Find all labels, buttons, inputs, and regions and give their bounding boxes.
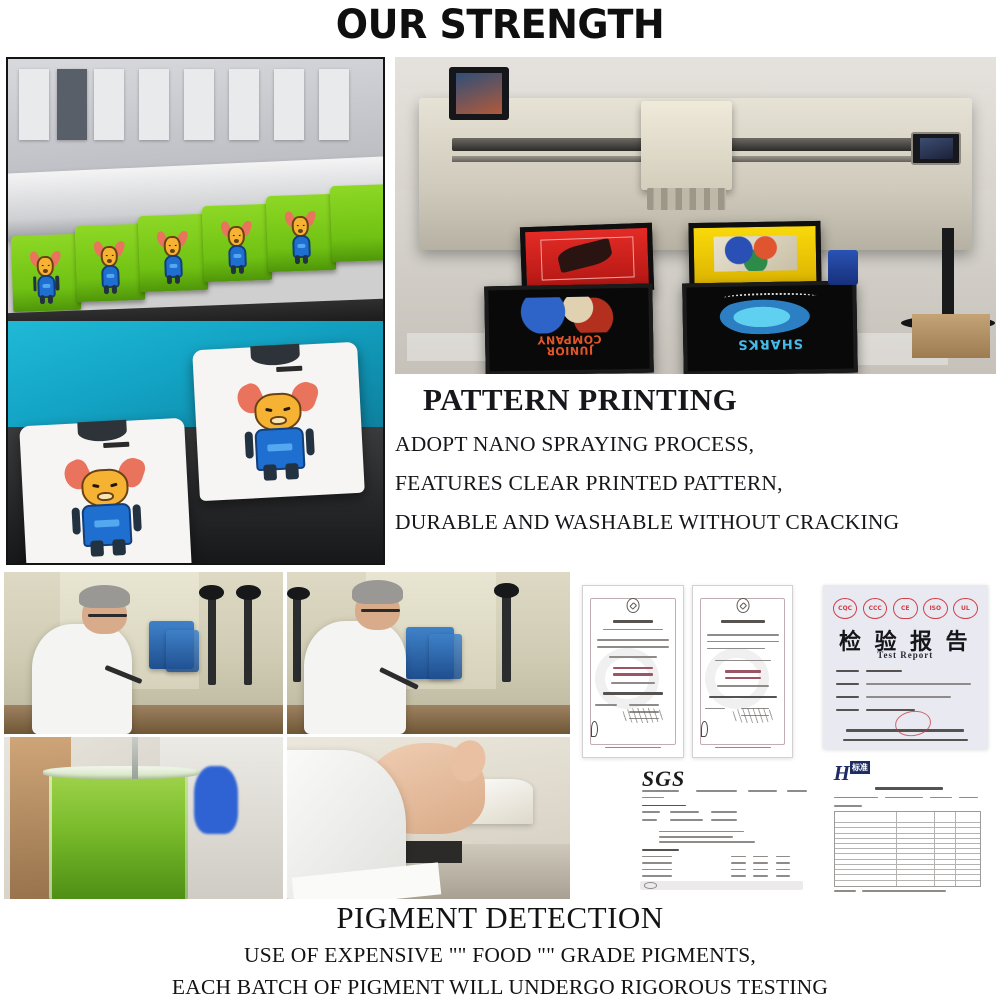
sgs-results-title xyxy=(642,849,679,851)
beaker-liquid xyxy=(49,773,189,899)
iso-logo-icon: ISO xyxy=(923,598,948,619)
bull-snout xyxy=(234,239,239,244)
certificate-h-test-report: H标准 xyxy=(827,758,987,895)
bull-leg-right xyxy=(239,265,244,274)
bull-mascot-print xyxy=(240,378,318,478)
sgs-results-row xyxy=(776,856,791,858)
h-report-header xyxy=(930,797,952,799)
table-row-divider xyxy=(835,827,981,828)
bull-leg-right xyxy=(285,464,299,480)
table-row-divider xyxy=(835,838,981,839)
blue-mixer-unit xyxy=(166,630,199,672)
bull-arm-left xyxy=(33,277,37,292)
pattern-printing-line-2: FEATURES CLEAR PRINTED PATTERN, xyxy=(395,471,1000,496)
bull-mascot-print xyxy=(67,453,145,553)
h-report-footnote xyxy=(862,890,945,892)
sharks-label: SHARKS xyxy=(701,335,841,352)
pattern-printing-line-1: ADOPT NANO SPRAYING PROCESS, xyxy=(395,432,1000,457)
bull-body xyxy=(291,235,310,259)
technician-hair xyxy=(352,580,403,604)
lab-clamp-knob xyxy=(287,587,310,600)
cardboard-box xyxy=(912,314,990,358)
photo-screen-printing-carousel xyxy=(6,57,385,565)
bull-snout xyxy=(170,249,175,254)
sgs-footer-bar xyxy=(640,881,803,890)
bull-snout xyxy=(269,416,286,426)
sgs-results-row xyxy=(753,862,768,864)
bull-eye-right xyxy=(111,254,113,256)
pigment-detection-line-1: USE OF EXPENSIVE "" FOOD "" GRADE PIGMEN… xyxy=(0,943,1000,968)
certificate-text-line xyxy=(707,648,765,650)
bull-leg-left xyxy=(40,296,45,305)
bull-eye-right xyxy=(283,407,290,412)
platen-sharks-garment: SHARKS xyxy=(683,281,859,374)
sgs-table-header xyxy=(642,811,661,813)
photo-dtg-printer: JUNIOR COMPANY SHARKS xyxy=(395,57,996,374)
bull-eye-right xyxy=(47,265,49,267)
sgs-table-cell xyxy=(642,819,657,821)
bull-leg-right xyxy=(175,275,180,284)
table-row-divider xyxy=(835,853,981,854)
sgs-results-row xyxy=(731,862,746,864)
certificate-text-line xyxy=(715,660,771,662)
yellow-tshirt xyxy=(689,221,822,290)
sharks-tshirt: SHARKS xyxy=(683,281,859,374)
sgs-results-row xyxy=(642,875,672,877)
bull-snout xyxy=(298,229,303,234)
bull-snout xyxy=(43,269,48,274)
operator-tablet[interactable] xyxy=(449,67,509,121)
sgs-header-line xyxy=(787,790,807,792)
bull-arm-left xyxy=(244,431,254,458)
hanging-shirt xyxy=(139,69,169,140)
beaker-rim xyxy=(43,766,199,779)
bull-arm-right xyxy=(305,428,315,455)
pigment-detection-section: PIGMENT DETECTION USE OF EXPENSIVE "" FO… xyxy=(0,900,1000,1000)
certificate-title-line xyxy=(721,620,765,623)
certificate-signature xyxy=(731,708,775,723)
sgs-logo: SGS xyxy=(642,766,685,792)
bull-eye-left xyxy=(92,484,99,488)
lab-clamp-knob xyxy=(236,585,261,600)
certificate-text-line xyxy=(611,682,655,684)
certification-logo-row: CQC CCC CE ISO UL xyxy=(833,598,978,619)
hanging-shirt xyxy=(19,69,49,140)
junior-company-tshirt: JUNIOR COMPANY xyxy=(484,284,654,374)
h-results-table xyxy=(834,811,982,888)
bull-leg-left xyxy=(231,265,236,274)
certificate-inspection-report: CQC CCC CE ISO UL 检 验 报 告 Test Report xyxy=(823,585,988,749)
certificate-signature xyxy=(621,708,665,723)
sgs-header-line xyxy=(748,790,778,792)
bull-leg-right xyxy=(112,539,126,555)
sgs-table-cell xyxy=(711,819,737,821)
sgs-header-line xyxy=(642,790,679,792)
sgs-results-row xyxy=(776,862,791,864)
bull-mascot-print xyxy=(159,228,188,282)
brand-wordmark xyxy=(275,366,302,372)
brand-wordmark xyxy=(103,442,130,448)
h-report-header xyxy=(885,797,923,799)
certificate-text-line xyxy=(597,646,668,648)
monitor-stand xyxy=(942,228,954,323)
blue-label xyxy=(194,766,239,834)
bull-eye-right xyxy=(174,244,176,246)
sgs-table-header xyxy=(711,811,737,813)
report-field-value xyxy=(866,670,902,672)
table-col-divider xyxy=(955,812,956,887)
sgs-results-row xyxy=(776,875,791,877)
h-lab-logo: H标准 xyxy=(834,761,870,786)
bull-eye-right xyxy=(238,234,240,236)
bull-leg-right xyxy=(48,295,53,304)
ul-logo-icon: UL xyxy=(953,598,978,619)
sgs-results-row xyxy=(731,875,746,877)
pattern-printing-line-3: DURABLE AND WASHABLE WITHOUT CRACKING xyxy=(395,510,1000,535)
printed-tshirt xyxy=(192,342,365,502)
sgs-results-row xyxy=(753,856,768,858)
sgs-note-line xyxy=(659,841,756,843)
sgs-results-row xyxy=(642,869,672,871)
table-row-divider xyxy=(835,869,981,870)
green-pallet xyxy=(74,224,144,302)
certificate-standard-line xyxy=(725,670,761,673)
printer-control-panel[interactable] xyxy=(911,132,961,165)
technician-coat xyxy=(32,624,132,734)
certificate-standard-line xyxy=(613,673,653,676)
sgs-results-row xyxy=(642,862,672,864)
certificate-standard-line xyxy=(725,677,761,680)
yellow-shirt-artwork xyxy=(714,235,798,272)
junior-company-line1: JUNIOR xyxy=(505,344,633,357)
red-official-stamp xyxy=(894,708,934,738)
cqc-logo-icon: CQC xyxy=(833,598,858,619)
lab-stand xyxy=(502,588,510,682)
certificate-title-line xyxy=(613,620,653,623)
certificate-text-line xyxy=(705,708,725,710)
hanging-shirt xyxy=(184,69,214,140)
bull-leg-right xyxy=(112,285,117,294)
sgs-note-line xyxy=(659,836,733,838)
bull-leg-left xyxy=(167,275,172,284)
bull-mascot-print xyxy=(222,218,251,272)
certificate-text-line xyxy=(629,704,659,706)
ce-logo-icon: CE xyxy=(893,598,918,619)
table-row-divider xyxy=(835,859,981,860)
platen-junior-company-garment: JUNIOR COMPANY xyxy=(484,284,654,374)
h-report-header xyxy=(959,797,978,799)
pattern-printing-section: PATTERN PRINTING ADOPT NANO SPRAYING PRO… xyxy=(395,382,1000,535)
sgs-results-row xyxy=(731,856,746,858)
bull-eye-left xyxy=(105,255,107,257)
certificate-footer-line xyxy=(605,747,661,748)
hanging-shirt xyxy=(94,69,124,140)
bull-eye-left xyxy=(169,245,171,247)
bull-eye-right xyxy=(302,224,304,226)
bull-eye-left xyxy=(296,224,298,226)
certificate-footer-line xyxy=(715,747,771,748)
table-row-divider xyxy=(835,864,981,865)
report-field-value xyxy=(866,683,971,685)
certificate-text-line xyxy=(609,656,657,658)
stirring-rod xyxy=(132,737,138,779)
sgs-header-line xyxy=(642,797,664,799)
certificate-sgs-report: SGS xyxy=(629,762,815,893)
hanging-shirt xyxy=(229,69,259,140)
photo-green-pigment-beaker xyxy=(4,737,283,899)
bull-leg-left xyxy=(295,255,300,264)
h-report-header xyxy=(834,805,863,807)
infographic-page: OUR STRENGTH xyxy=(0,0,1000,1000)
pattern-printing-heading: PATTERN PRINTING xyxy=(395,382,1000,418)
table-row-divider xyxy=(835,822,981,823)
sgs-note-line xyxy=(659,831,744,833)
pigment-detection-line-2: EACH BATCH OF PIGMENT WILL UNDERGO RIGOR… xyxy=(0,975,1000,1000)
technician-glasses xyxy=(88,614,127,617)
bull-eye-left xyxy=(232,235,234,237)
pigment-detection-heading: PIGMENT DETECTION xyxy=(0,900,1000,936)
photo-certificates-panel: CQC CCC CE ISO UL 检 验 报 告 Test Report SG… xyxy=(574,572,996,899)
certificate-quality-mark-icon xyxy=(701,721,708,736)
photo-lab-technician-2 xyxy=(287,572,570,734)
report-field-label xyxy=(836,709,859,711)
bull-mascot-print xyxy=(286,208,315,262)
bull-leg-left xyxy=(104,286,109,295)
table-col-divider xyxy=(934,812,935,887)
certificate-text-line xyxy=(597,639,668,641)
bull-snout xyxy=(106,259,111,264)
table-row-divider xyxy=(835,880,981,881)
printhead-carriage xyxy=(641,101,731,190)
technician-glasses xyxy=(361,609,401,612)
h-report-title xyxy=(875,787,942,790)
lab-stand xyxy=(208,588,216,685)
certificate-text-line xyxy=(595,704,617,706)
green-pallet xyxy=(10,234,80,312)
sgs-results-row xyxy=(753,875,768,877)
sgs-results-row xyxy=(642,856,672,858)
report-field-label xyxy=(836,670,859,672)
hanging-shirt xyxy=(274,69,304,140)
hanging-shirt xyxy=(319,69,349,140)
report-field-label xyxy=(836,696,859,698)
green-pallet xyxy=(329,184,385,262)
certificate-standard-line xyxy=(613,667,653,670)
inspection-report-subtitle: Test Report xyxy=(823,650,988,660)
sgs-table-header xyxy=(670,811,700,813)
green-pallet xyxy=(202,204,272,282)
bull-eye-right xyxy=(111,482,118,487)
sgs-results-row xyxy=(776,869,791,871)
bull-arm-right xyxy=(55,276,59,291)
technician-hair xyxy=(79,585,129,608)
certificate-iso-right xyxy=(692,585,793,758)
bull-arm-left xyxy=(71,507,81,534)
report-field-label xyxy=(836,683,859,685)
green-pallet xyxy=(138,214,208,292)
issuing-authority-line xyxy=(843,739,968,742)
table-row-divider xyxy=(835,843,981,844)
table-row-divider xyxy=(835,848,981,849)
certificate-text-line xyxy=(717,685,769,687)
certificate-iso-left xyxy=(582,585,683,758)
bull-eye-left xyxy=(41,265,43,267)
h-report-header xyxy=(834,797,879,799)
h-report-footnote xyxy=(834,890,856,892)
junior-company-artwork xyxy=(514,296,624,333)
blue-mixer-unit xyxy=(429,634,463,679)
sgs-results-row xyxy=(731,869,746,871)
sgs-footer-seal-icon xyxy=(644,882,657,889)
lab-stand xyxy=(293,591,301,682)
certificate-scope-line xyxy=(709,696,777,699)
ccc-logo-icon: CCC xyxy=(863,598,888,619)
platen-yellow-garment xyxy=(689,221,822,290)
shark-head-artwork xyxy=(720,295,820,337)
bull-leg-left xyxy=(90,540,104,556)
sgs-table-cell xyxy=(670,819,703,821)
lab-clamp-knob xyxy=(199,585,224,600)
lab-stand xyxy=(244,588,252,685)
page-title: OUR STRENGTH xyxy=(25,0,975,50)
sgs-header-line xyxy=(696,790,737,792)
bull-mascot-print xyxy=(95,238,124,292)
green-pallet xyxy=(265,194,335,272)
bull-leg-left xyxy=(263,465,277,481)
table-row-divider xyxy=(835,833,981,834)
table-col-divider xyxy=(896,812,897,887)
lab-clamp-knob xyxy=(494,583,519,598)
bull-arm-right xyxy=(132,504,142,531)
sgs-section-title xyxy=(642,805,687,807)
certificate-text-line xyxy=(707,634,778,636)
bull-leg-right xyxy=(303,255,308,264)
certificate-scope-line xyxy=(603,692,663,695)
sgs-results-row xyxy=(753,869,768,871)
report-field-value xyxy=(866,696,952,698)
bull-snout xyxy=(97,492,114,502)
table-row-divider xyxy=(835,874,981,875)
photo-lab-technician-1 xyxy=(4,572,283,734)
printed-tshirt xyxy=(19,418,192,565)
hanging-shirt xyxy=(57,69,87,140)
bull-eye-left xyxy=(264,408,271,412)
ink-bottle xyxy=(828,250,858,285)
bull-mascot-print xyxy=(31,249,60,303)
photo-test-sheet-handling xyxy=(287,737,570,899)
report-field-value xyxy=(866,709,915,711)
